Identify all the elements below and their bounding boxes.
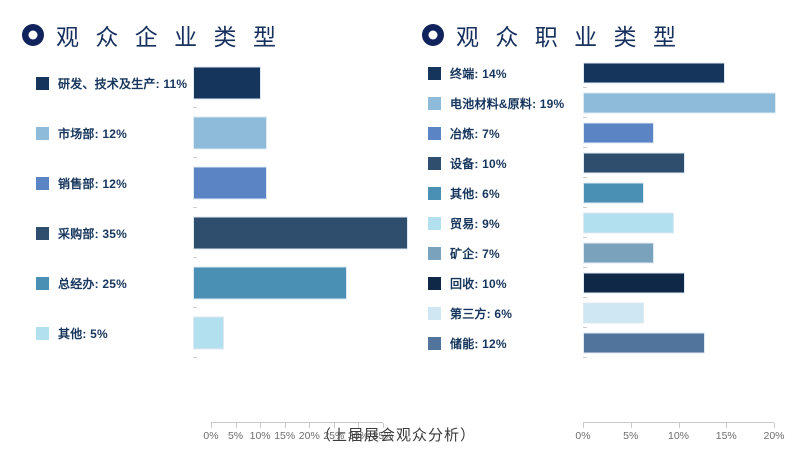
- legend-swatch-icon: [36, 327, 49, 340]
- chart-bar: [583, 213, 674, 234]
- legend-swatch-icon: [428, 217, 441, 230]
- chart-bar: [583, 333, 705, 354]
- legend-swatch-icon: [428, 277, 441, 290]
- legend-swatch-icon: [428, 187, 441, 200]
- chart-bar: [193, 167, 267, 200]
- left-chart-x-axis: 0%5%10%15%20%25%30%35%: [211, 422, 383, 423]
- chart-row: 电池材料&原料: 19%: [418, 88, 786, 118]
- ring-icon: [22, 24, 44, 46]
- chart-row: 其他: 6%: [418, 178, 786, 208]
- legend-swatch-icon: [36, 77, 49, 90]
- chart-bar: [583, 93, 776, 114]
- legend-item: 冶炼: 7%: [418, 125, 583, 142]
- chart-bar: [583, 63, 725, 84]
- legend-swatch-icon: [36, 127, 49, 140]
- chart-row: 市场部: 12%: [18, 108, 408, 158]
- chart-panel-visitor-occupation-type: 观 众 职 业 类 型 终端: 14%电池材料&原料: 19%冶炼: 7%设备:…: [418, 0, 786, 358]
- chart-row: 其他: 5%: [18, 308, 408, 358]
- legend-item-label: 电池材料&原料: 19%: [450, 95, 564, 112]
- legend-item-label: 设备: 10%: [450, 155, 507, 172]
- legend-item: 终端: 14%: [418, 65, 583, 82]
- legend-item: 第三方: 6%: [418, 305, 583, 322]
- right-chart-title-text: 观 众 职 业 类 型: [456, 18, 681, 52]
- left-chart-body: 研发、技术及生产: 11%市场部: 12%销售部: 12%采购部: 35%总经办…: [18, 58, 408, 358]
- chart-plot-area: [583, 58, 786, 88]
- right-chart-rows: 终端: 14%电池材料&原料: 19%冶炼: 7%设备: 10%其他: 6%贸易…: [418, 58, 786, 358]
- chart-plot-area: [193, 58, 408, 108]
- chart-row: 研发、技术及生产: 11%: [18, 58, 408, 108]
- chart-bar: [193, 217, 408, 250]
- legend-item-label: 采购部: 35%: [58, 225, 127, 242]
- legend-item-label: 总经办: 25%: [58, 275, 127, 292]
- legend-item-label: 研发、技术及生产: 11%: [58, 75, 187, 92]
- chart-bar: [583, 183, 644, 204]
- left-chart-title: 观 众 企 业 类 型: [18, 0, 408, 56]
- legend-item-label: 储能: 12%: [450, 335, 507, 352]
- chart-bar: [193, 267, 347, 300]
- chart-row: 贸易: 9%: [418, 208, 786, 238]
- chart-plot-area: [583, 148, 786, 178]
- legend-item-label: 其他: 5%: [58, 325, 108, 342]
- chart-plot-area: [583, 178, 786, 208]
- chart-plot-area: [583, 208, 786, 238]
- chart-bar: [193, 67, 261, 100]
- legend-item-label: 其他: 6%: [450, 185, 500, 202]
- chart-row: 第三方: 6%: [418, 298, 786, 328]
- legend-swatch-icon: [36, 277, 49, 290]
- legend-swatch-icon: [428, 337, 441, 350]
- chart-plot-area: [583, 88, 786, 118]
- legend-swatch-icon: [36, 227, 49, 240]
- legend-swatch-icon: [428, 127, 441, 140]
- legend-item: 研发、技术及生产: 11%: [18, 75, 193, 92]
- chart-row: 回收: 10%: [418, 268, 786, 298]
- legend-item: 贸易: 9%: [418, 215, 583, 232]
- legend-swatch-icon: [36, 177, 49, 190]
- legend-item-label: 销售部: 12%: [58, 175, 127, 192]
- chart-row: 储能: 12%: [418, 328, 786, 358]
- chart-bar: [583, 153, 685, 174]
- legend-item-label: 贸易: 9%: [450, 215, 500, 232]
- legend-item: 总经办: 25%: [18, 275, 193, 292]
- slide-canvas: 观 众 企 业 类 型 研发、技术及生产: 11%市场部: 12%销售部: 12…: [0, 0, 792, 472]
- chart-plot-area: [583, 238, 786, 268]
- chart-bar: [193, 117, 267, 150]
- chart-bar: [583, 243, 654, 264]
- chart-bar: [583, 123, 654, 144]
- legend-item: 设备: 10%: [418, 155, 583, 172]
- legend-item: 回收: 10%: [418, 275, 583, 292]
- legend-swatch-icon: [428, 97, 441, 110]
- legend-swatch-icon: [428, 247, 441, 260]
- legend-item: 电池材料&原料: 19%: [418, 95, 583, 112]
- legend-swatch-icon: [428, 67, 441, 80]
- right-chart-title: 观 众 职 业 类 型: [418, 0, 786, 56]
- chart-row: 采购部: 35%: [18, 208, 408, 258]
- chart-plot-area: [193, 208, 408, 258]
- left-chart-rows: 研发、技术及生产: 11%市场部: 12%销售部: 12%采购部: 35%总经办…: [18, 58, 408, 358]
- legend-item-label: 矿企: 7%: [450, 245, 500, 262]
- legend-item: 储能: 12%: [418, 335, 583, 352]
- legend-swatch-icon: [428, 307, 441, 320]
- chart-plot-area: [583, 268, 786, 298]
- chart-row: 终端: 14%: [418, 58, 786, 88]
- chart-row: 销售部: 12%: [18, 158, 408, 208]
- axis-minor-tick: [583, 357, 587, 358]
- legend-item-label: 终端: 14%: [450, 65, 507, 82]
- chart-row: 设备: 10%: [418, 148, 786, 178]
- chart-panel-visitor-company-type: 观 众 企 业 类 型 研发、技术及生产: 11%市场部: 12%销售部: 12…: [18, 0, 408, 358]
- chart-row: 矿企: 7%: [418, 238, 786, 268]
- chart-bar: [583, 273, 685, 294]
- chart-bar: [583, 303, 644, 324]
- chart-row: 总经办: 25%: [18, 258, 408, 308]
- chart-plot-area: [583, 298, 786, 328]
- legend-item: 其他: 6%: [418, 185, 583, 202]
- legend-item: 其他: 5%: [18, 325, 193, 342]
- legend-item-label: 市场部: 12%: [58, 125, 127, 142]
- chart-plot-area: [193, 308, 408, 358]
- right-chart-x-axis: 0%5%10%15%20%: [583, 422, 774, 423]
- right-chart-body: 终端: 14%电池材料&原料: 19%冶炼: 7%设备: 10%其他: 6%贸易…: [418, 58, 786, 358]
- chart-plot-area: [583, 328, 786, 358]
- chart-plot-area: [193, 158, 408, 208]
- chart-bar: [193, 317, 224, 350]
- chart-plot-area: [583, 118, 786, 148]
- slide-caption: （上届展会观众分析）: [0, 424, 792, 445]
- chart-plot-area: [193, 258, 408, 308]
- chart-row: 冶炼: 7%: [418, 118, 786, 148]
- legend-item: 采购部: 35%: [18, 225, 193, 242]
- legend-item-label: 回收: 10%: [450, 275, 507, 292]
- legend-item: 销售部: 12%: [18, 175, 193, 192]
- legend-swatch-icon: [428, 157, 441, 170]
- legend-item: 矿企: 7%: [418, 245, 583, 262]
- legend-item-label: 冶炼: 7%: [450, 125, 500, 142]
- ring-icon: [422, 24, 444, 46]
- axis-minor-tick: [193, 357, 197, 358]
- legend-item-label: 第三方: 6%: [450, 305, 512, 322]
- legend-item: 市场部: 12%: [18, 125, 193, 142]
- left-chart-title-text: 观 众 企 业 类 型: [56, 18, 281, 52]
- chart-plot-area: [193, 108, 408, 158]
